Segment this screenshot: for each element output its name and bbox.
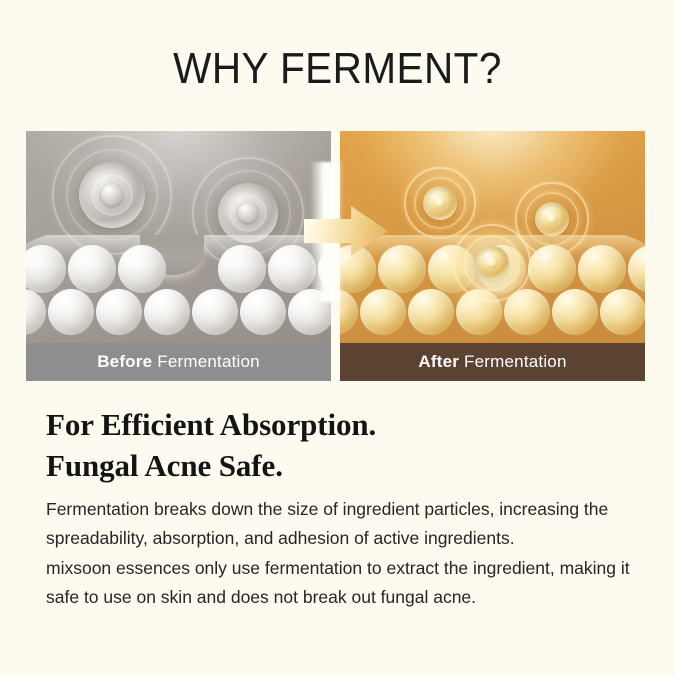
skin-pearl bbox=[360, 289, 406, 335]
skin-pearl bbox=[340, 245, 376, 293]
skin-pearl bbox=[218, 245, 266, 293]
ingredient-particle-large bbox=[218, 183, 278, 243]
skin-pearl bbox=[48, 289, 94, 335]
after-caption-bar: After Fermentation bbox=[340, 343, 645, 381]
skin-pearl bbox=[144, 289, 190, 335]
skin-pearl bbox=[68, 245, 116, 293]
skin-pearl bbox=[628, 245, 645, 293]
skin-pearl bbox=[378, 245, 426, 293]
skin-pearl bbox=[552, 289, 598, 335]
skin-pearl bbox=[408, 289, 454, 335]
ingredient-particle-small bbox=[423, 186, 457, 220]
pearl-row-top bbox=[26, 245, 331, 293]
skin-pearl bbox=[96, 289, 142, 335]
body-paragraph-2: mixsoon essences only use fermentation t… bbox=[46, 554, 646, 613]
after-caption-rest: Fermentation bbox=[464, 352, 567, 372]
before-caption-rest: Fermentation bbox=[157, 352, 260, 372]
skin-pearl bbox=[118, 245, 166, 293]
skin-pearl bbox=[288, 289, 331, 335]
before-skin-layer bbox=[26, 235, 331, 343]
before-caption-emphasis: Before bbox=[97, 352, 152, 372]
pearl-row-bottom bbox=[26, 289, 331, 335]
before-scene bbox=[26, 131, 331, 343]
skin-pearl bbox=[26, 289, 46, 335]
particle-inner-ring bbox=[92, 175, 133, 216]
skin-pearl bbox=[340, 289, 358, 335]
after-scene bbox=[340, 131, 645, 343]
before-caption-bar: Before Fermentation bbox=[26, 343, 331, 381]
skin-pearl bbox=[600, 289, 645, 335]
ingredient-particle-large bbox=[79, 162, 145, 228]
skin-pearl bbox=[318, 245, 331, 293]
skin-pearl bbox=[578, 245, 626, 293]
ingredient-particle-penetrating bbox=[475, 246, 509, 280]
before-after-comparison: Before Fermentation bbox=[26, 131, 647, 381]
after-panel: After Fermentation bbox=[340, 131, 645, 381]
body-paragraph-1: Fermentation breaks down the size of ing… bbox=[46, 495, 646, 554]
headline-line-1: For Efficient Absorption. bbox=[46, 405, 636, 446]
section-headline: For Efficient Absorption. Fungal Acne Sa… bbox=[46, 405, 636, 487]
page-title: WHY FERMENT? bbox=[27, 44, 648, 94]
ingredient-particle-small bbox=[535, 202, 569, 236]
before-panel: Before Fermentation bbox=[26, 131, 331, 381]
section-body-copy: Fermentation breaks down the size of ing… bbox=[46, 495, 646, 613]
headline-line-2: Fungal Acne Safe. bbox=[46, 446, 636, 487]
particle-inner-ring bbox=[229, 194, 266, 231]
skin-pearl bbox=[192, 289, 238, 335]
after-caption-emphasis: After bbox=[418, 352, 459, 372]
skin-pearl bbox=[240, 289, 286, 335]
skin-pearl bbox=[528, 245, 576, 293]
skin-pearl bbox=[26, 245, 66, 293]
skin-pearl bbox=[268, 245, 316, 293]
